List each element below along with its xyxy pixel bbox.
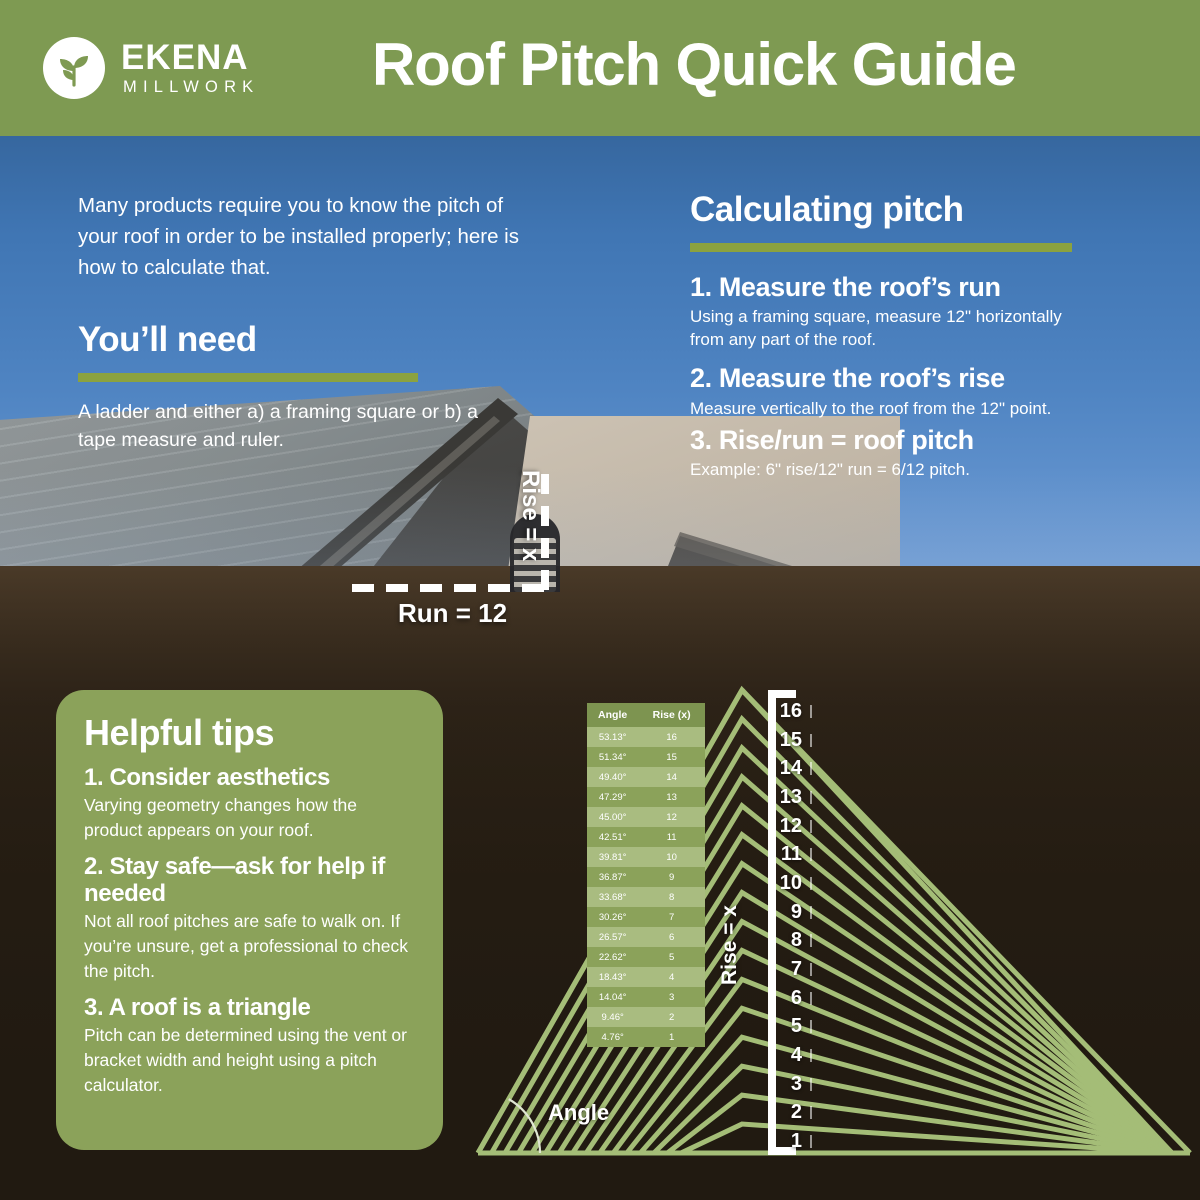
ruler-tick-mark xyxy=(810,992,812,1005)
cell-rise: 11 xyxy=(638,827,705,847)
ruler-vertical-bar xyxy=(768,690,776,1155)
ruler-tick-label: 13 xyxy=(776,786,802,809)
fan-pitch-lines xyxy=(478,690,1190,1153)
rise-ruler: 16151413121110987654321 xyxy=(758,690,828,1155)
ruler-tick-mark xyxy=(810,906,812,919)
ruler-tick-mark xyxy=(810,848,812,861)
cell-rise: 3 xyxy=(638,987,705,1007)
cell-angle: 45.00° xyxy=(587,807,638,827)
table-row: 18.43°4 xyxy=(587,967,705,987)
step-2-title: 2. Measure the roof’s rise xyxy=(690,363,1005,394)
ruler-tick-label: 16 xyxy=(776,700,802,723)
cell-angle: 9.46° xyxy=(587,1007,638,1027)
run-dashed-line xyxy=(352,584,548,592)
table-row: 26.57°6 xyxy=(587,927,705,947)
cell-rise: 4 xyxy=(638,967,705,987)
ruler-tick-label: 11 xyxy=(776,843,802,866)
ruler-tick-mark xyxy=(810,820,812,833)
rise-axis-label: Rise = x xyxy=(718,905,742,985)
ruler-tick-label: 1 xyxy=(776,1130,802,1153)
table-row: 9.46°2 xyxy=(587,1007,705,1027)
ruler-tick-label: 4 xyxy=(776,1044,802,1067)
youll-need-heading: You’ll need xyxy=(78,320,257,360)
ruler-tick-label: 6 xyxy=(776,987,802,1010)
cell-rise: 10 xyxy=(638,847,705,867)
youll-need-body: A ladder and either a) a framing square … xyxy=(78,398,478,454)
leaf-plant-icon xyxy=(43,37,105,99)
table-row: 53.13°16 xyxy=(587,727,705,747)
brand-name-secondary: MILLWORK xyxy=(123,79,259,96)
ruler-tick-label: 15 xyxy=(776,729,802,752)
cell-angle: 33.68° xyxy=(587,887,638,907)
table-row: 30.26°7 xyxy=(587,907,705,927)
table-row: 42.51°11 xyxy=(587,827,705,847)
ruler-tick-label: 8 xyxy=(776,929,802,952)
page-title: Roof Pitch Quick Guide xyxy=(372,30,1016,99)
cell-angle: 42.51° xyxy=(587,827,638,847)
tip-2-body: Not all roof pitches are safe to walk on… xyxy=(84,909,415,984)
ruler-tick-mark xyxy=(810,762,812,775)
cell-rise: 1 xyxy=(638,1027,705,1047)
ruler-tick-mark xyxy=(810,734,812,747)
ruler-tick-mark xyxy=(810,877,812,890)
cell-rise: 5 xyxy=(638,947,705,967)
rise-annotation-label: Rise = x xyxy=(516,470,544,561)
table-row: 4.76°1 xyxy=(587,1027,705,1047)
ruler-tick-label: 2 xyxy=(776,1101,802,1124)
cell-angle: 14.04° xyxy=(587,987,638,1007)
table-row: 47.29°13 xyxy=(587,787,705,807)
ruler-tick-label: 9 xyxy=(776,901,802,924)
step-1-title: 1. Measure the roof’s run xyxy=(690,272,1001,303)
angle-label: Angle xyxy=(548,1100,609,1126)
brand-logo[interactable]: EKENA MILLWORK xyxy=(43,37,259,99)
cell-rise: 2 xyxy=(638,1007,705,1027)
tip-3-body: Pitch can be determined using the vent o… xyxy=(84,1023,415,1098)
cell-rise: 16 xyxy=(638,727,705,747)
calculating-pitch-underline xyxy=(690,243,1072,252)
helpful-tips-heading: Helpful tips xyxy=(84,712,415,754)
tip-2-title: 2. Stay safe—ask for help if needed xyxy=(84,853,415,907)
table-row: 45.00°12 xyxy=(587,807,705,827)
cell-angle: 36.87° xyxy=(587,867,638,887)
cell-angle: 22.62° xyxy=(587,947,638,967)
ruler-tick-mark xyxy=(810,705,812,718)
cell-angle: 4.76° xyxy=(587,1027,638,1047)
run-annotation-label: Run = 12 xyxy=(398,598,507,629)
tip-1-body: Varying geometry changes how the product… xyxy=(84,793,415,843)
ruler-tick-label: 7 xyxy=(776,958,802,981)
table-header-row: AngleRise (x) xyxy=(587,703,705,727)
cell-angle: 39.81° xyxy=(587,847,638,867)
ruler-tick-label: 12 xyxy=(776,815,802,838)
youll-need-underline xyxy=(78,373,418,382)
cell-rise: 9 xyxy=(638,867,705,887)
table-row: 33.68°8 xyxy=(587,887,705,907)
cell-angle: 49.40° xyxy=(587,767,638,787)
intro-paragraph: Many products require you to know the pi… xyxy=(78,190,548,283)
table-row: 14.04°3 xyxy=(587,987,705,1007)
ruler-tick-mark xyxy=(810,1135,812,1148)
cell-rise: 14 xyxy=(638,767,705,787)
infographic-page: EKENA MILLWORK Roof Pitch Quick Guide Ma… xyxy=(0,0,1200,1200)
cell-rise: 7 xyxy=(638,907,705,927)
cell-angle: 53.13° xyxy=(587,727,638,747)
table-col-header-0: Angle xyxy=(587,703,638,727)
step-3-title: 3. Rise/run = roof pitch xyxy=(690,425,974,456)
table-row: 22.62°5 xyxy=(587,947,705,967)
cell-angle: 30.26° xyxy=(587,907,638,927)
ruler-tick-label: 3 xyxy=(776,1073,802,1096)
cell-angle: 47.29° xyxy=(587,787,638,807)
ruler-top-cap xyxy=(768,690,796,698)
cell-rise: 15 xyxy=(638,747,705,767)
tip-3-title: 3. A roof is a triangle xyxy=(84,994,415,1021)
step-2-body: Measure vertically to the roof from the … xyxy=(690,397,1090,420)
ruler-tick-mark xyxy=(810,934,812,947)
table-row: 49.40°14 xyxy=(587,767,705,787)
ruler-tick-mark xyxy=(810,1049,812,1062)
cell-angle: 18.43° xyxy=(587,967,638,987)
cell-rise: 8 xyxy=(638,887,705,907)
table-row: 36.87°9 xyxy=(587,867,705,887)
ruler-tick-label: 14 xyxy=(776,757,802,780)
pitch-reference-table: AngleRise (x) 53.13°1651.34°1549.40°1447… xyxy=(587,703,705,1047)
cell-rise: 13 xyxy=(638,787,705,807)
cell-rise: 6 xyxy=(638,927,705,947)
calculating-pitch-heading: Calculating pitch xyxy=(690,190,963,230)
ruler-tick-label: 10 xyxy=(776,872,802,895)
ruler-tick-mark xyxy=(810,791,812,804)
ruler-tick-mark xyxy=(810,1078,812,1091)
page-header: EKENA MILLWORK Roof Pitch Quick Guide xyxy=(0,0,1200,136)
tip-1-title: 1. Consider aesthetics xyxy=(84,764,415,791)
ruler-tick-mark xyxy=(810,963,812,976)
table-row: 51.34°15 xyxy=(587,747,705,767)
ruler-tick-mark xyxy=(810,1020,812,1033)
step-1-body: Using a framing square, measure 12" hori… xyxy=(690,305,1090,351)
pitch-fan-diagram xyxy=(460,680,1200,1165)
cell-angle: 26.57° xyxy=(587,927,638,947)
helpful-tips-card: Helpful tips 1. Consider aesthetics Vary… xyxy=(56,690,443,1150)
table-row: 39.81°10 xyxy=(587,847,705,867)
table-col-header-1: Rise (x) xyxy=(638,703,705,727)
ruler-tick-mark xyxy=(810,1106,812,1119)
brand-name-primary: EKENA xyxy=(121,40,259,75)
cell-rise: 12 xyxy=(638,807,705,827)
cell-angle: 51.34° xyxy=(587,747,638,767)
ruler-tick-label: 5 xyxy=(776,1015,802,1038)
step-3-body: Example: 6" rise/12" run = 6/12 pitch. xyxy=(690,458,1090,481)
